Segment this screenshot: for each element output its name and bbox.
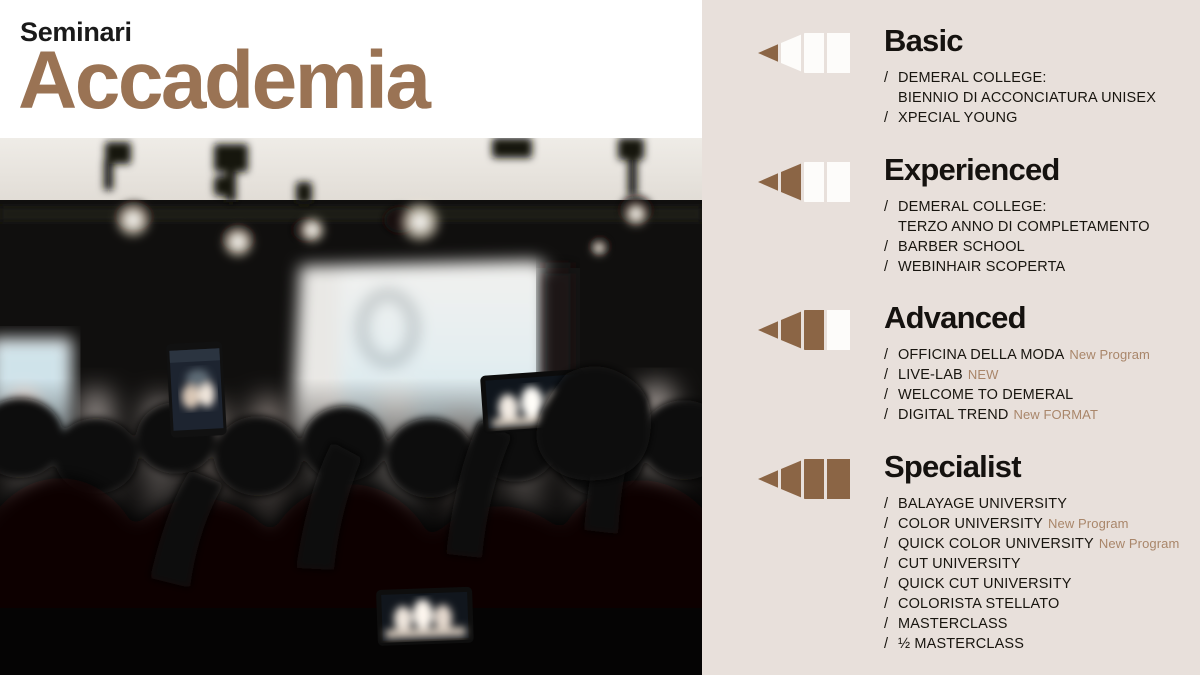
section-list-specialist: /BALAYAGE UNIVERSITY /COLOR UNIVERSITYNe… xyxy=(884,494,1179,654)
item-tag: New Program xyxy=(1048,516,1129,531)
item-label: COLOR UNIVERSITY xyxy=(898,516,1043,532)
page-title: Accademia xyxy=(18,36,429,126)
bullet-marker: / xyxy=(884,385,898,405)
section-list-experienced: /DEMERAL COLLEGE: TERZO ANNO DI COMPLETA… xyxy=(884,197,1150,277)
item-label: QUICK CUT UNIVERSITY xyxy=(898,576,1072,592)
list-item: /MASTERCLASS xyxy=(884,614,1179,634)
item-label: BARBER SCHOOL xyxy=(898,239,1025,255)
bullet-marker: / xyxy=(884,554,898,574)
bullet-marker: / xyxy=(884,365,898,385)
list-item: /DIGITAL TRENDNew FORMAT xyxy=(884,405,1150,425)
list-item: /CUT UNIVERSITY xyxy=(884,554,1179,574)
item-label: DIGITAL TREND xyxy=(898,407,1008,423)
bullet-marker: / xyxy=(884,594,898,614)
item-label: OFFICINA DELLA MODA xyxy=(898,347,1064,363)
slide-canvas: Seminari Accademia xyxy=(0,0,1200,675)
section-heading-basic: Basic xyxy=(884,24,963,58)
section-list-advanced: /OFFICINA DELLA MODANew Program /LIVE-LA… xyxy=(884,345,1150,425)
bullet-marker: / xyxy=(884,514,898,534)
bullet-marker: / xyxy=(884,237,898,257)
list-item: /BALAYAGE UNIVERSITY xyxy=(884,494,1179,514)
item-label: ½ MASTERCLASS xyxy=(898,636,1024,652)
item-label: QUICK COLOR UNIVERSITY xyxy=(898,536,1094,552)
list-item: /WELCOME TO DEMERAL xyxy=(884,385,1150,405)
item-label: DEMERAL COLLEGE: xyxy=(898,199,1047,215)
item-tag: New Program xyxy=(1099,536,1180,551)
item-label: MASTERCLASS xyxy=(898,616,1008,632)
bullet-marker: / xyxy=(884,68,898,88)
section-heading-experienced: Experienced xyxy=(884,153,1060,187)
list-item: /OFFICINA DELLA MODANew Program xyxy=(884,345,1150,365)
list-item: /DEMERAL COLLEGE: TERZO ANNO DI COMPLETA… xyxy=(884,197,1150,237)
title-block: Seminari Accademia xyxy=(0,0,702,138)
level-arrow-basic xyxy=(758,33,850,73)
bullet-marker: / xyxy=(884,574,898,594)
bullet-marker: / xyxy=(884,108,898,128)
list-item: /BARBER SCHOOL xyxy=(884,237,1150,257)
bullet-marker: / xyxy=(884,345,898,365)
item-tag: NEW xyxy=(968,367,999,382)
list-item: /LIVE-LABNEW xyxy=(884,365,1150,385)
programs-panel: Basic /DEMERAL COLLEGE: BIENNIO DI ACCON… xyxy=(702,0,1200,675)
item-label: CUT UNIVERSITY xyxy=(898,556,1021,572)
level-arrow-experienced xyxy=(758,162,850,202)
level-arrow-advanced xyxy=(758,310,850,350)
list-item: /COLORISTA STELLATO xyxy=(884,594,1179,614)
item-label: XPECIAL YOUNG xyxy=(898,110,1018,126)
left-column: Seminari Accademia xyxy=(0,0,702,675)
bullet-marker: / xyxy=(884,494,898,514)
item-label: LIVE-LAB xyxy=(898,367,963,383)
list-item: /COLOR UNIVERSITYNew Program xyxy=(884,514,1179,534)
list-item: /QUICK CUT UNIVERSITY xyxy=(884,574,1179,594)
item-label: COLORISTA STELLATO xyxy=(898,596,1059,612)
bullet-marker: / xyxy=(884,197,898,217)
item-label: WEBINHAIR SCOPERTA xyxy=(898,259,1065,275)
list-item: /DEMERAL COLLEGE: BIENNIO DI ACCONCIATUR… xyxy=(884,68,1156,108)
section-heading-advanced: Advanced xyxy=(884,301,1026,335)
level-arrow-specialist xyxy=(758,459,850,499)
bullet-marker: / xyxy=(884,257,898,277)
bullet-marker: / xyxy=(884,634,898,654)
bullet-marker: / xyxy=(884,534,898,554)
section-heading-specialist: Specialist xyxy=(884,450,1021,484)
list-item: /½ MASTERCLASS xyxy=(884,634,1179,654)
item-continuation: TERZO ANNO DI COMPLETAMENTO xyxy=(884,217,1150,237)
item-tag: New Program xyxy=(1069,347,1150,362)
item-continuation: BIENNIO DI ACCONCIATURA UNISEX xyxy=(884,88,1156,108)
item-label: WELCOME TO DEMERAL xyxy=(898,387,1073,403)
list-item: /QUICK COLOR UNIVERSITYNew Program xyxy=(884,534,1179,554)
item-label: BALAYAGE UNIVERSITY xyxy=(898,496,1067,512)
seminar-photo xyxy=(0,138,702,675)
section-list-basic: /DEMERAL COLLEGE: BIENNIO DI ACCONCIATUR… xyxy=(884,68,1156,128)
list-item: /XPECIAL YOUNG xyxy=(884,108,1156,128)
item-tag: New FORMAT xyxy=(1013,407,1098,422)
bullet-marker: / xyxy=(884,614,898,634)
bullet-marker: / xyxy=(884,405,898,425)
list-item: /WEBINHAIR SCOPERTA xyxy=(884,257,1150,277)
item-label: DEMERAL COLLEGE: xyxy=(898,70,1047,86)
